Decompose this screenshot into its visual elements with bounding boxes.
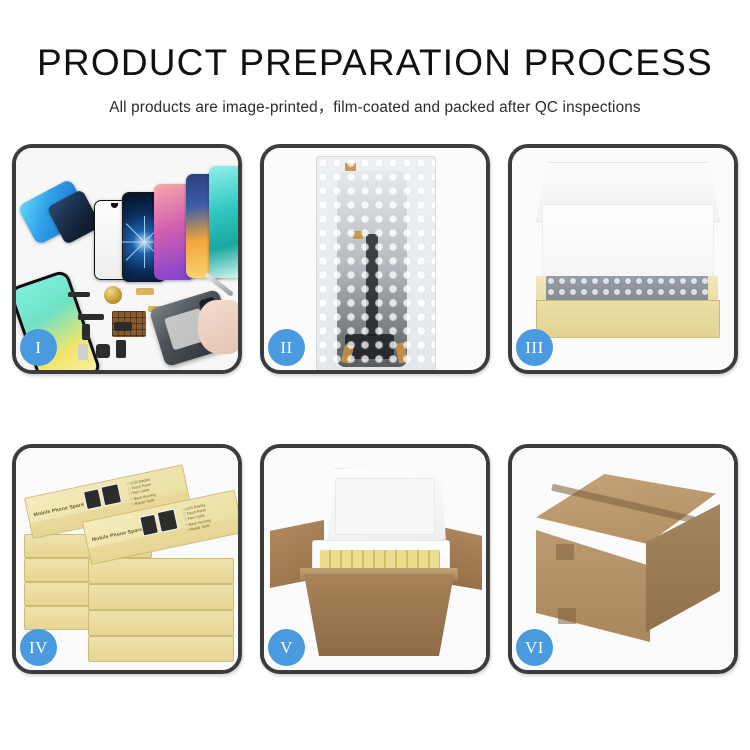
step-panel-1: I (12, 144, 242, 374)
stacked-box (88, 636, 234, 662)
step-panel-6: VI (508, 444, 738, 674)
tape-tab-top (345, 163, 356, 171)
step-badge-5: V (268, 629, 305, 666)
carton-tape-lower (558, 608, 576, 624)
header: PRODUCT PREPARATION PROCESS All products… (0, 0, 750, 117)
page-subtitle: All products are image-printed，film-coat… (0, 84, 750, 117)
vibration-motor-part (104, 286, 122, 304)
box-checklist: □ LCD Display□ Touch Panel□ Flex Cable□ … (182, 503, 212, 534)
step-badge-6: VI (516, 629, 553, 666)
battery-connector-part (116, 340, 126, 358)
box-label-screen-image (100, 483, 122, 506)
gold-connector-part (136, 288, 154, 295)
step-panel-5: V (260, 444, 490, 674)
bubble-wrap-bag (316, 156, 436, 370)
teal-screen (209, 166, 238, 278)
tape-tab-mid (353, 231, 363, 239)
step-panel-3: III (508, 144, 738, 374)
carton-left-face (536, 530, 650, 642)
flex-cable-part (78, 314, 104, 320)
page-title: PRODUCT PREPARATION PROCESS (0, 0, 750, 84)
foam-box-lid (322, 468, 446, 546)
technician-hand (198, 300, 238, 354)
product-preparation-infographic: PRODUCT PREPARATION PROCESS All products… (0, 0, 750, 750)
stacked-box (88, 610, 234, 636)
sim-tray-part (78, 344, 88, 360)
step-badge-4: IV (20, 629, 57, 666)
process-steps-grid: I II (12, 144, 738, 674)
stacked-box (88, 558, 234, 584)
shield-can-part (114, 322, 132, 331)
wrapped-screen-assembly (337, 171, 407, 367)
earpiece-part (68, 292, 90, 297)
carton-tape-upper (556, 544, 574, 560)
speaker-part (96, 344, 110, 358)
stacked-retail-boxes: Mobile Phone Spare Parts □ LCD Display□ … (22, 462, 238, 664)
box-front-panel (536, 300, 720, 338)
foam-sheet (542, 204, 714, 284)
step-badge-3: III (516, 329, 553, 366)
step-badge-2: II (268, 329, 305, 366)
camera-module-part (82, 324, 90, 340)
carton-body (304, 574, 454, 656)
step-panel-2: II (260, 144, 490, 374)
step-panel-4: Mobile Phone Spare Parts □ LCD Display□ … (12, 444, 242, 674)
box-checklist: □ LCD Display□ Touch Panel□ Flex Cable□ … (127, 477, 157, 508)
step-badge-1: I (20, 329, 57, 366)
stacked-box (88, 584, 234, 610)
